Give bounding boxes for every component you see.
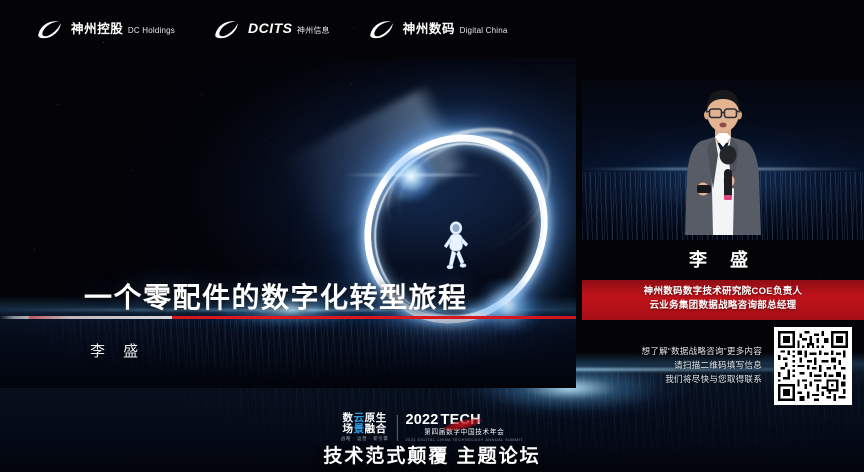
swirl-icon: [368, 18, 396, 40]
logo-en-label: Digital China: [460, 26, 508, 35]
speaker-role-line2: 云业务集团数据战略咨询部总经理: [582, 299, 864, 313]
event-logo-slogan: 数云原生 场景融合 战略 · 运营 · 新引擎: [341, 413, 389, 442]
qr-instructions: 想了解“数据战略咨询”更多内容 请扫描二维码填写信息 我们将尽快与您取得联系: [642, 345, 762, 387]
swirl-icon: [213, 18, 241, 40]
logo-en-label: DC Holdings: [128, 26, 175, 35]
title-divider-grey: [0, 316, 172, 319]
logo-text-dc-holdings: 神州控股 DC Holdings: [71, 21, 175, 38]
logo-cn-label: DCITS: [248, 20, 293, 36]
qr-instruction-line2: 请扫描二维码填写信息: [642, 359, 762, 373]
speaker-video-panel[interactable]: [582, 80, 864, 240]
logo-dcits: DCITS 神州信息: [213, 18, 330, 40]
logo-dc-holdings: 神州控股 DC Holdings: [36, 18, 175, 40]
swirl-icon: [36, 18, 64, 40]
slogan-char-5: 景: [354, 423, 365, 435]
top-logo-bar: 神州控股 DC Holdings DCITS 神州信息: [0, 0, 864, 58]
speaker-person: [663, 85, 783, 240]
qr-contact-block: 想了解“数据战略咨询”更多内容 请扫描二维码填写信息 我们将尽快与您取得联系: [600, 325, 852, 407]
bottom-bar: 数云原生 场景融合 战略 · 运营 · 新引擎 2022 TECH 第四届数字中…: [0, 410, 864, 472]
event-tech-wordmark: TECH: [441, 413, 481, 428]
logo-en-label: 神州信息: [297, 26, 330, 35]
event-year: 2022: [405, 413, 438, 428]
qr-instruction-line3: 我们将尽快与您取得联系: [642, 373, 762, 387]
speaker-role-line1: 神州数码数字技术研究院COE负责人: [582, 285, 864, 299]
event-subtitle: 第四届数字中国技术年会: [405, 430, 523, 437]
slogan-char-4: 场: [342, 423, 353, 435]
qr-code[interactable]: [774, 327, 852, 405]
event-slogan-line2: 场景融合: [341, 424, 389, 435]
event-year-tech: 2022 TECH: [405, 413, 523, 428]
speaker-role-band: 神州数码数字技术研究院COE负责人 云业务集团数据战略咨询部总经理: [582, 280, 864, 320]
slogan-char-6: 融合: [365, 423, 387, 435]
logo-cn-label: 神州控股: [71, 22, 123, 36]
speaker-nameplate: 李 盛 神州数码数字技术研究院COE负责人 云业务集团数据战略咨询部总经理: [582, 240, 864, 320]
logo-text-digital-china: 神州数码 Digital China: [403, 21, 508, 38]
speaker-name: 李 盛: [582, 240, 864, 280]
logo-cn-label: 神州数码: [403, 22, 455, 36]
presentation-slide: 一个零配件的数字化转型旅程 李 盛: [0, 58, 576, 388]
logo-digital-china: 神州数码 Digital China: [368, 18, 508, 40]
forum-title: 技术范式颠覆 主题论坛: [323, 441, 540, 468]
screen-root: 神州控股 DC Holdings DCITS 神州信息: [0, 0, 864, 472]
event-logo-divider: [396, 415, 397, 441]
ring-lens-flare-top: [383, 148, 439, 204]
slide-title: 一个零配件的数字化转型旅程: [84, 276, 468, 316]
qr-instruction-line1: 想了解“数据战略咨询”更多内容: [642, 345, 762, 359]
astronaut-icon: [442, 221, 472, 275]
event-logo-title: 2022 TECH 第四届数字中国技术年会 2022 DIGITAL CHINA…: [405, 413, 523, 441]
logo-text-dcits: DCITS 神州信息: [248, 21, 330, 38]
event-logo: 数云原生 场景融合 战略 · 运营 · 新引擎 2022 TECH 第四届数字中…: [341, 413, 523, 442]
slide-speaker-name: 李 盛: [90, 340, 145, 361]
